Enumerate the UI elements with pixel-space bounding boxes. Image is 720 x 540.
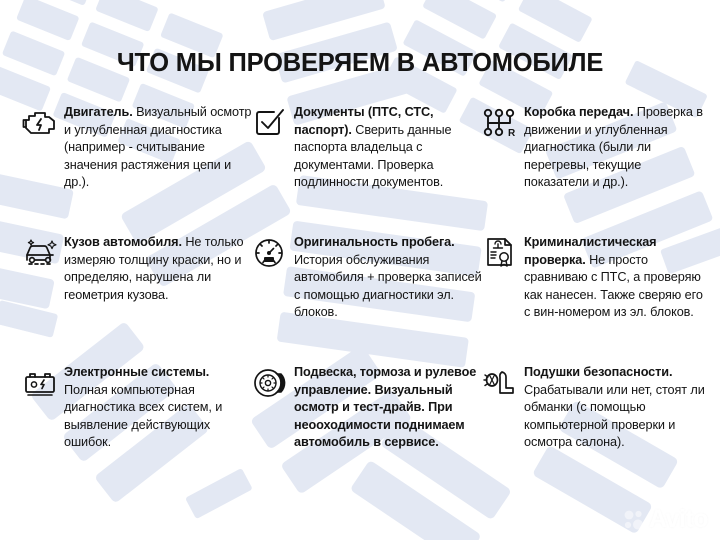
gear-shifter-icon: R (482, 106, 518, 140)
checklist-item-lead: Кузов автомобиля. (64, 235, 182, 249)
checklist-item-lead: Оригинальность пробега. (294, 235, 455, 249)
page-title: ЧТО МЫ ПРОВЕРЯЕМ В АВТОМОБИЛЕ (0, 49, 720, 78)
checklist-item-gearbox: R Коробка передач. Проверка в движении и… (482, 104, 706, 234)
checklist-item-documents: Документы (ПТС, СТС, паспорт). Сверить д… (252, 104, 482, 234)
checklist-item-text: Криминалистическая проверка. Не просто с… (524, 234, 706, 322)
checklist-item-lead: Подушки безопасности. (524, 365, 672, 379)
checklist-item-text: Кузов автомобиля. Не только измеряю толщ… (64, 234, 252, 304)
checklist-item-text: Подвеска, тормоза и рулевое управление. … (294, 364, 482, 452)
checklist-item-text: Оригинальность пробега. История обслужив… (294, 234, 482, 322)
checklist-item-rest: История обслуживания автомобиля + провер… (294, 253, 482, 320)
checklist-item-lead: Электронные системы. (64, 365, 209, 379)
engine-check-icon (22, 106, 58, 140)
checklist-item-rest: Полная компьютерная диагностика всех сис… (64, 383, 222, 450)
checklist-item-mileage: Оригинальность пробега. История обслужив… (252, 234, 482, 364)
car-body-shine-icon (22, 236, 58, 270)
checklist-item-text: Подушки безопасности. Срабатывали или не… (524, 364, 706, 452)
avito-logo-icon (623, 509, 645, 531)
checkbox-check-icon (252, 106, 288, 140)
checklist-item-text: Коробка передач. Проверка в движении и у… (524, 104, 706, 192)
checklist-item-forensic-check: Криминалистическая проверка. Не просто с… (482, 234, 706, 364)
checklist-item-rest: Срабатывали или нет, стоят ли обманки (с… (524, 383, 705, 450)
checklist-item-suspension-brakes: Подвеска, тормоза и рулевое управление. … (252, 364, 482, 494)
avito-wordmark: Avito (649, 507, 708, 532)
airbag-seat-icon (482, 366, 518, 400)
forensic-document-icon (482, 236, 518, 270)
brake-disc-icon (252, 366, 288, 400)
checklist-item-lead: Двигатель. (64, 105, 133, 119)
speedometer-icon (252, 236, 288, 270)
avito-watermark: Avito (623, 507, 708, 532)
battery-icon (22, 366, 58, 400)
checklist-item-car-body: Кузов автомобиля. Не только измеряю толщ… (22, 234, 252, 364)
svg-text:R: R (508, 128, 516, 139)
checklist-item-lead: Коробка передач. (524, 105, 633, 119)
checklist-item-engine: Двигатель. Визуальный осмотр и углубленн… (22, 104, 252, 234)
checklist-grid: Двигатель. Визуальный осмотр и углубленн… (22, 104, 706, 494)
checklist-item-text: Электронные системы. Полная компьютерная… (64, 364, 252, 452)
checklist-item-text: Документы (ПТС, СТС, паспорт). Сверить д… (294, 104, 482, 192)
checklist-item-electronic-systems: Электронные системы. Полная компьютерная… (22, 364, 252, 494)
checklist-item-airbags: Подушки безопасности. Срабатывали или не… (482, 364, 706, 494)
checklist-item-text: Двигатель. Визуальный осмотр и углубленн… (64, 104, 252, 192)
